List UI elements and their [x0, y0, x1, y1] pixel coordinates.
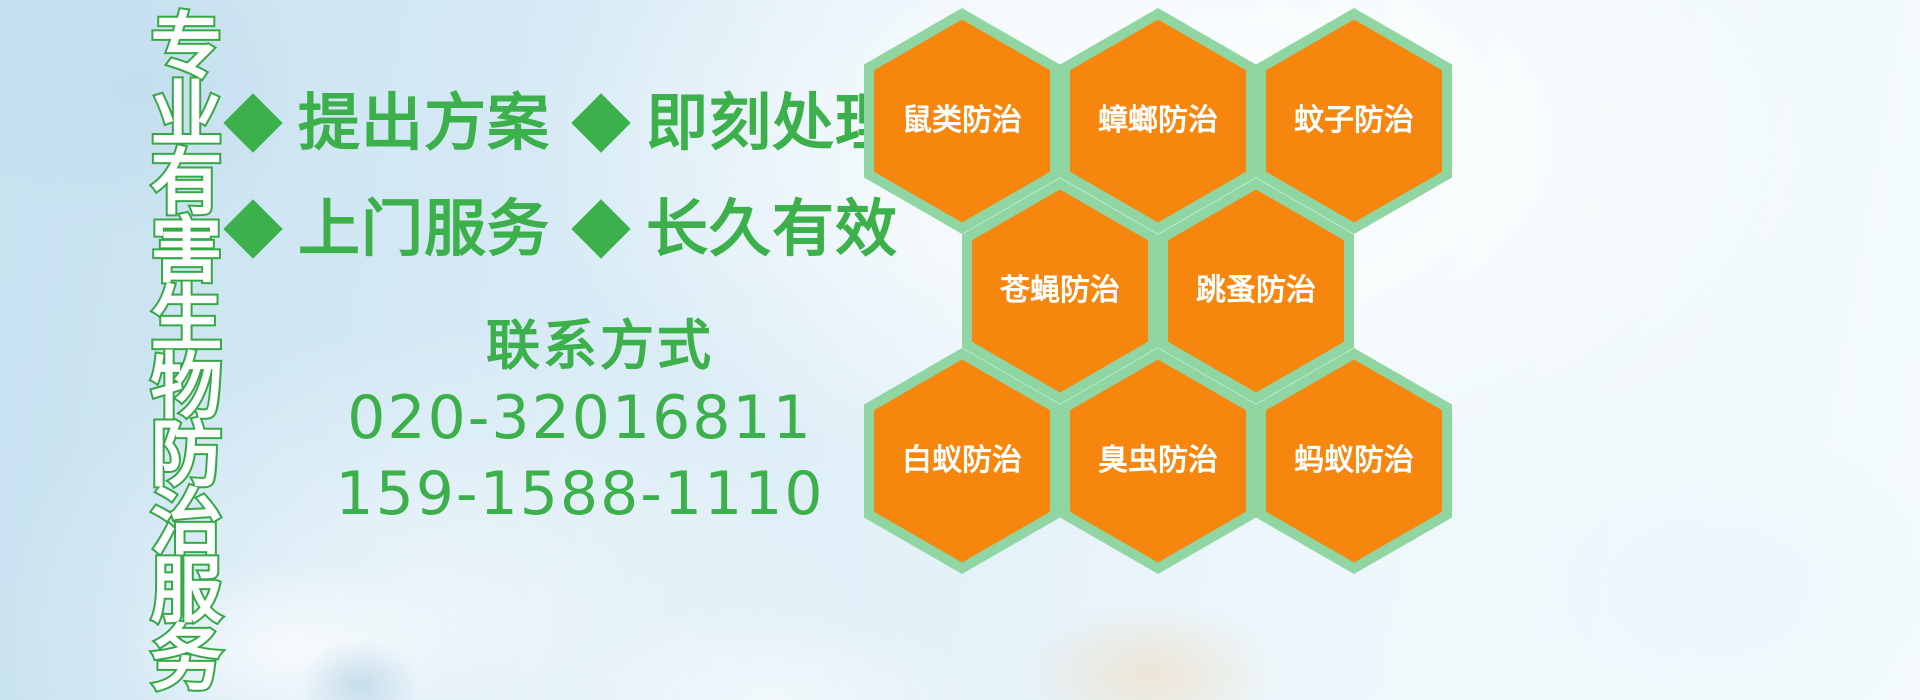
diamond-icon — [223, 93, 282, 152]
hex-label: 白蚁防治 — [902, 446, 1022, 476]
vertical-headline: 专业有害生物防治服务 — [104, 8, 216, 568]
contact-block: 联系方式 020-32016811 159-1588-1110 — [300, 312, 860, 533]
hex-label: 鼠类防治 — [902, 106, 1022, 136]
feature-row-1: 提出方案 即刻处理 — [232, 92, 898, 154]
hex-label: 臭虫防治 — [1098, 446, 1218, 476]
hex-inner: 蚂蚁防治 — [1266, 360, 1442, 563]
diamond-icon — [571, 199, 630, 258]
hex-inner: 臭虫防治 — [1070, 360, 1246, 563]
background-blur-blob — [1020, 600, 1280, 700]
hex-inner: 鼠类防治 — [874, 20, 1050, 223]
feature-label-propose-plan: 提出方案 — [298, 92, 550, 154]
hex-label: 蟑螂防治 — [1098, 106, 1218, 136]
diamond-icon — [571, 93, 630, 152]
hex-inner: 跳蚤防治 — [1168, 190, 1344, 393]
hex-inner: 白蚁防治 — [874, 360, 1050, 563]
service-honeycomb: 鼠类防治 蟑螂防治 蚊子防治 苍蝇防治 跳蚤防治 白蚁防治 — [858, 0, 1458, 570]
hex-inner: 苍蝇防治 — [972, 190, 1148, 393]
feature-row-2: 上门服务 长久有效 — [232, 198, 898, 260]
contact-phone-landline[interactable]: 020-32016811 — [300, 380, 860, 457]
pest-control-banner: 专业有害生物防治服务 提出方案 即刻处理 上门服务 长久有效 联系方式 020-… — [0, 0, 1920, 700]
background-blur-blob — [560, 600, 980, 700]
contact-title: 联系方式 — [340, 312, 860, 380]
background-blur-blob — [1480, 430, 1920, 700]
hex-label: 蚊子防治 — [1294, 106, 1414, 136]
hex-label: 苍蝇防治 — [1000, 276, 1120, 306]
background-blur-blob — [300, 640, 420, 700]
feature-label-onsite-service: 上门服务 — [298, 198, 550, 260]
hex-label: 蚂蚁防治 — [1294, 446, 1414, 476]
hex-inner: 蚊子防治 — [1266, 20, 1442, 223]
hex-inner: 蟑螂防治 — [1070, 20, 1246, 223]
diamond-icon — [223, 199, 282, 258]
hex-label: 跳蚤防治 — [1196, 276, 1316, 306]
contact-phone-mobile[interactable]: 159-1588-1110 — [300, 456, 860, 533]
